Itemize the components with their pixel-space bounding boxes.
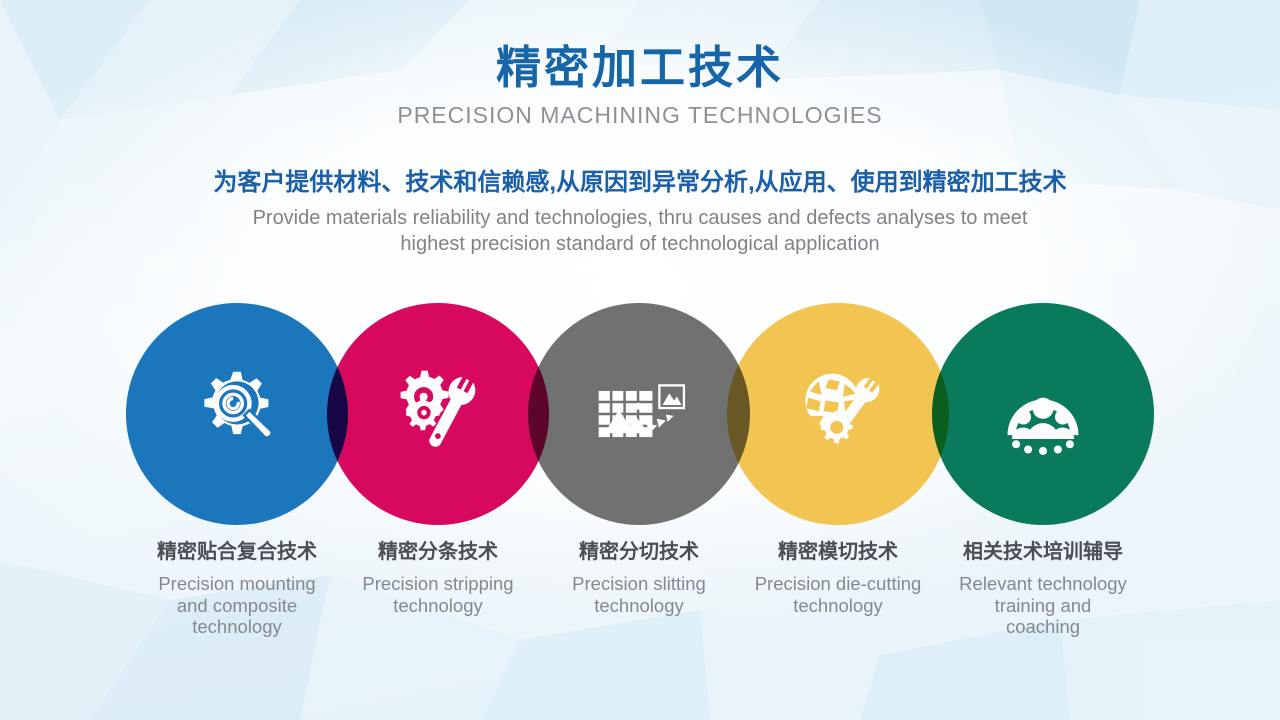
caption-precision-slitting: 精密分切技术 Precision slitting technology <box>534 540 744 616</box>
caption-cn: 精密分切技术 <box>534 540 744 564</box>
caption-en-line: Precision die-cutting <box>733 573 943 595</box>
strapline: 为客户提供材料、技术和信赖感,从原因到异常分析,从应用、使用到精密加工技术 Pr… <box>0 168 1280 257</box>
caption-en-line: training and <box>938 595 1148 617</box>
circle-precision-die-cutting[interactable] <box>727 303 949 525</box>
people-group-arch-icon <box>995 366 1091 462</box>
caption-precision-mounting: 精密贴合复合技术 Precision mounting and composit… <box>132 540 342 638</box>
caption-cn: 相关技术培训辅导 <box>938 540 1148 564</box>
gear-magnifier-icon <box>189 366 285 462</box>
circle-precision-mounting[interactable] <box>126 303 348 525</box>
caption-precision-stripping: 精密分条技术 Precision stripping technology <box>333 540 543 616</box>
caption-en-line: technology <box>733 595 943 617</box>
page-title-en: PRECISION MACHINING TECHNOLOGIES <box>0 102 1280 129</box>
caption-en-line: Precision mounting <box>132 573 342 595</box>
strapline-en-line1: Provide materials reliability and techno… <box>0 206 1280 232</box>
circle-row <box>0 303 1280 527</box>
strapline-cn: 为客户提供材料、技术和信赖感,从原因到异常分析,从应用、使用到精密加工技术 <box>0 168 1280 198</box>
caption-en: Precision slitting technology <box>534 573 744 616</box>
caption-en: Precision stripping technology <box>333 573 543 616</box>
caption-en-line: Precision stripping <box>333 573 543 595</box>
caption-en-line: coaching <box>938 616 1148 638</box>
gears-wrench-icon <box>390 366 486 462</box>
caption-en: Relevant technology training and coachin… <box>938 573 1148 638</box>
page-title-cn: 精密加工技术 <box>0 44 1280 93</box>
caption-en-line: Relevant technology <box>938 573 1148 595</box>
caption-cn: 精密分条技术 <box>333 540 543 564</box>
caption-cn: 精密模切技术 <box>733 540 943 564</box>
caption-precision-die-cutting: 精密模切技术 Precision die-cutting technology <box>733 540 943 616</box>
caption-en-line: and composite <box>132 595 342 617</box>
caption-en: Precision mounting and composite technol… <box>132 573 342 638</box>
caption-cn: 精密贴合复合技术 <box>132 540 342 564</box>
strapline-en: Provide materials reliability and techno… <box>0 206 1280 257</box>
caption-en-line: technology <box>132 616 342 638</box>
caption-en: Precision die-cutting technology <box>733 573 943 616</box>
caption-en-line: technology <box>534 595 744 617</box>
strapline-en-line2: highest precision standard of technologi… <box>0 232 1280 258</box>
globe-wrench-gear-icon <box>790 366 886 462</box>
circle-technology-training[interactable] <box>932 303 1154 525</box>
image-slice-icon <box>591 366 687 462</box>
caption-en-line: technology <box>333 595 543 617</box>
slide-header: 精密加工技术 PRECISION MACHINING TECHNOLOGIES <box>0 44 1280 129</box>
circle-precision-stripping[interactable] <box>327 303 549 525</box>
caption-en-line: Precision slitting <box>534 573 744 595</box>
caption-row: 精密贴合复合技术 Precision mounting and composit… <box>0 540 1280 700</box>
circle-precision-slitting[interactable] <box>528 303 750 525</box>
caption-technology-training: 相关技术培训辅导 Relevant technology training an… <box>938 540 1148 638</box>
slide-canvas: 精密加工技术 PRECISION MACHINING TECHNOLOGIES … <box>0 0 1280 720</box>
